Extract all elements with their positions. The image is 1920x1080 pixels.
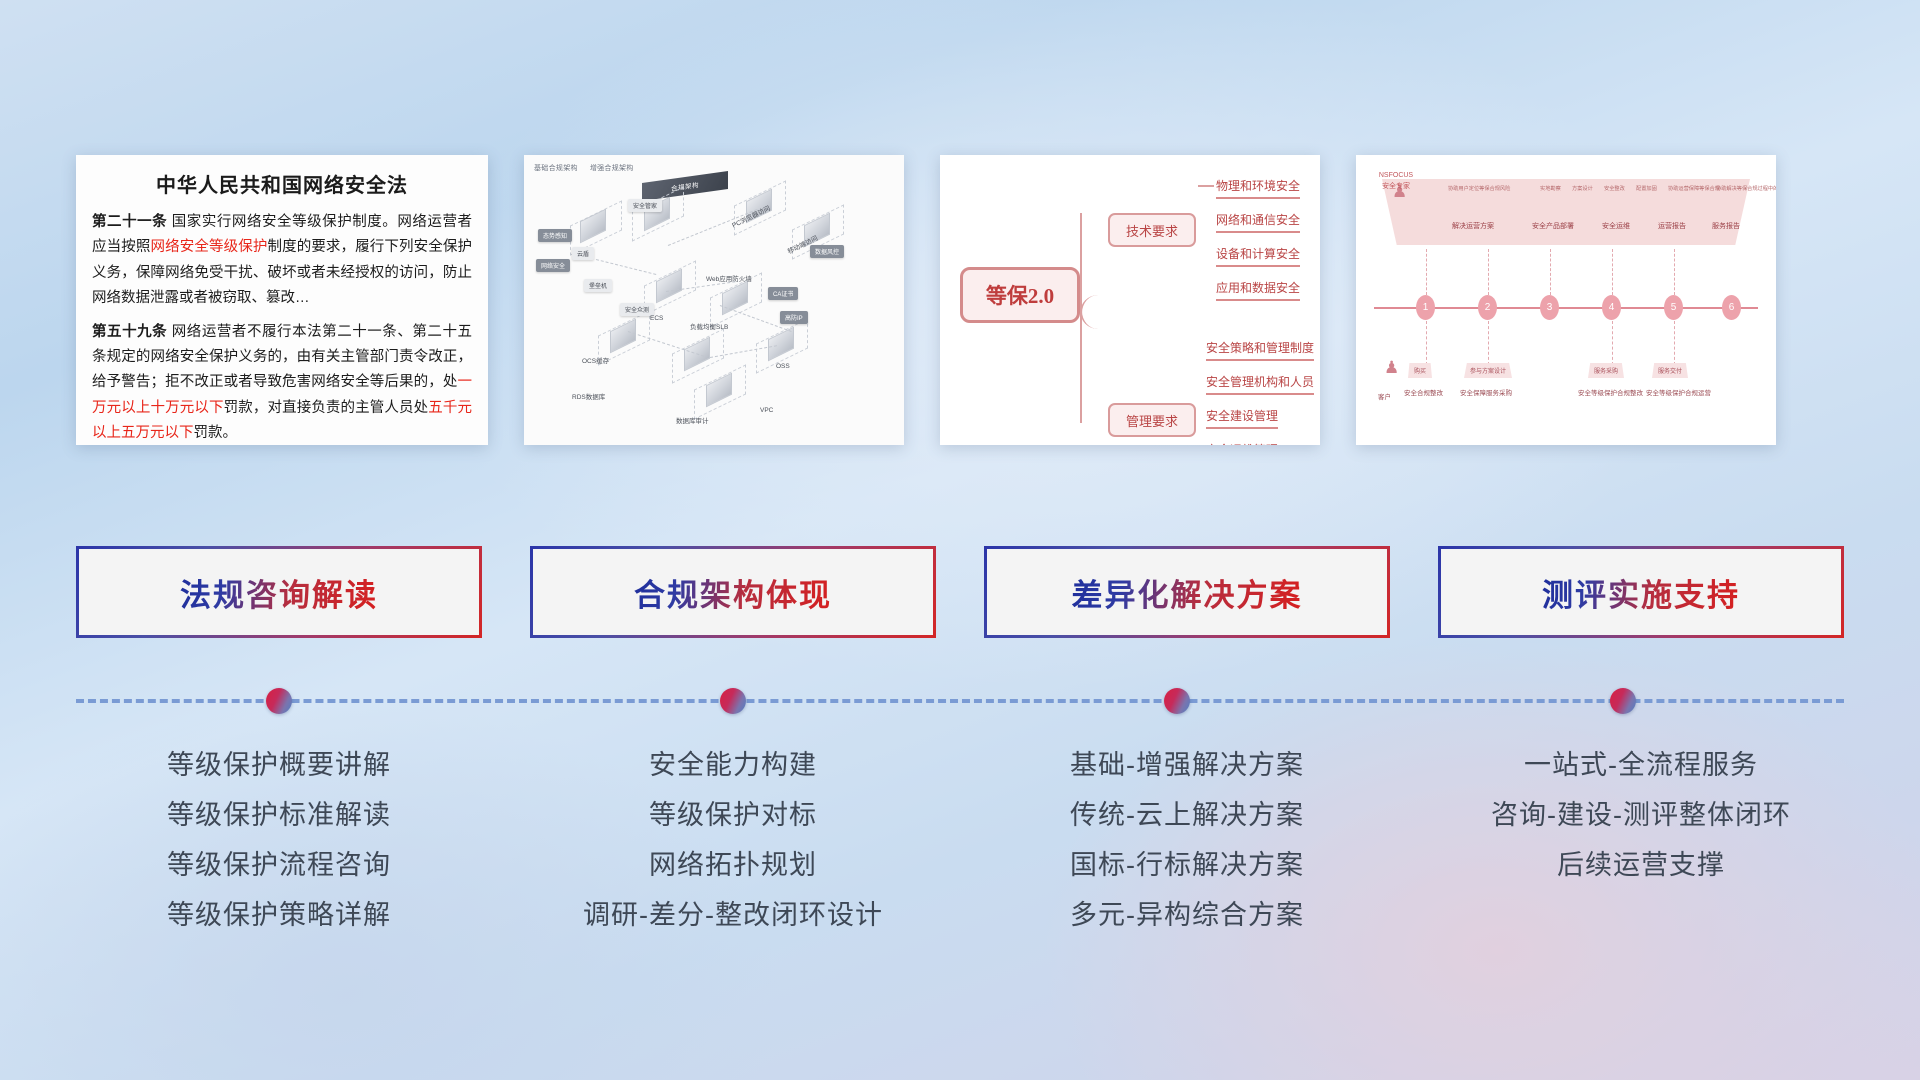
list-column-differentiated-solutions: 基础-增强解决方案 传统-云上解决方案 国标-行标解决方案 多元-异构综合方案: [984, 740, 1390, 970]
architecture-header: 基础合规架构增强合规架构: [534, 163, 646, 173]
architecture-diagram: 基础合规架构增强合规架构 合规架构 云盾: [524, 155, 904, 445]
diagram-chip: 安全管家: [628, 199, 662, 212]
mindmap-leaf: 安全运维管理: [1206, 441, 1278, 445]
law-article-59: 第五十九条 网络运营者不履行本法第二十一条、第二十五条规定的网络安全保护义务的，…: [92, 320, 472, 446]
law-article-59-after: 罚款。: [194, 425, 238, 441]
process-dashed-connector: [1488, 249, 1489, 295]
banner-inner: 测评实施支持: [1441, 549, 1841, 635]
service-detail-lists: 等级保护概要讲解 等级保护标准解读 等级保护流程咨询 等级保护策略详解 安全能力…: [76, 740, 1844, 970]
law-article-59-number: 第五十九条: [92, 324, 167, 340]
process-tag-caption: 安全等级保护合规整改: [1578, 387, 1643, 397]
list-item: 网络拓扑规划: [530, 840, 936, 890]
process-tag-caption: 安全合规整改: [1404, 387, 1443, 397]
process-dashed-connector: [1674, 321, 1675, 365]
diagram-label: RDS数据库: [572, 391, 605, 401]
mindmap-connector: [1198, 185, 1214, 281]
architecture-title-chip-label: 合规架构: [642, 171, 728, 201]
timeline-dashed-line: [76, 699, 1844, 703]
mindmap-leaf: 物理和环境安全: [1216, 177, 1300, 199]
timeline-dot-2[interactable]: [720, 688, 746, 714]
diagram-label: ECS: [650, 315, 663, 322]
diagram-chip: CA证书: [768, 287, 798, 300]
list-item: 国标-行标解决方案: [984, 840, 1390, 890]
banner-label: 合规架构体现: [634, 570, 832, 615]
law-article-21-number: 第二十一条: [92, 214, 167, 230]
process-tag: 服务交付: [1652, 363, 1688, 378]
card-dengbao-mindmap[interactable]: 等保2.0 技术要求 管理要求 物理和环境安全 网络和通信安全 设备和计算安全 …: [940, 155, 1320, 445]
list-item: 后续运营支撑: [1438, 840, 1844, 890]
diagram-chip: 堡垒机: [584, 279, 612, 292]
law-article-21-highlight: 网络安全等级保护: [150, 239, 267, 255]
mindmap-branch-management: 管理要求: [1108, 403, 1196, 437]
process-step: 3: [1540, 295, 1559, 320]
list-item: 等级保护概要讲解: [76, 740, 482, 790]
nsfocus-banner-sub: 解决运营方案: [1452, 221, 1494, 231]
list-item: 基础-增强解决方案: [984, 740, 1390, 790]
diagram-chip: 高防IP: [780, 311, 808, 324]
process-dashed-connector: [1674, 249, 1675, 295]
diagram-connector: [596, 259, 656, 275]
process-step: 4: [1602, 295, 1621, 320]
banner-differentiated-solutions[interactable]: 差异化解决方案: [984, 546, 1390, 638]
nsfocus-brand-line2: 安全专家: [1364, 182, 1428, 193]
timeline-dot-4[interactable]: [1610, 688, 1636, 714]
nsfocus-banner-sub: 安全产品部署: [1532, 221, 1574, 231]
list-column-compliance-architecture: 安全能力构建 等级保护对标 网络拓扑规划 调研-差分-整改闭环设计: [530, 740, 936, 970]
list-item: 安全能力构建: [530, 740, 936, 790]
process-tag: 服务采购: [1588, 363, 1624, 378]
diagram-label: OSS: [776, 363, 790, 370]
nsfocus-brand: NSFOCUS 安全专家: [1364, 171, 1428, 192]
banner-inner: 合规架构体现: [533, 549, 933, 635]
nsfocus-brand-line1: NSFOCUS: [1364, 171, 1428, 182]
process-step: 5: [1664, 295, 1683, 320]
banner-regulation-consulting[interactable]: 法规咨询解读: [76, 546, 482, 638]
process-dashed-connector: [1612, 249, 1613, 295]
mindmap-leaf: 安全建设管理: [1206, 407, 1278, 429]
diagram-label: OCS缓存: [582, 355, 609, 365]
law-title: 中华人民共和国网络安全法: [92, 169, 472, 198]
architecture-title-chip: 合规架构: [642, 171, 728, 201]
process-dashed-connector: [1550, 249, 1551, 295]
mindmap-leaf: 设备和计算安全: [1216, 245, 1300, 267]
banner-label: 测评实施支持: [1542, 570, 1740, 615]
preview-cards-row: 中华人民共和国网络安全法 第二十一条 国家实行网络安全等级保护制度。网络运营者应…: [76, 155, 1844, 445]
mindmap-leaf: 安全策略和管理制度: [1206, 339, 1314, 361]
list-item: 等级保护对标: [530, 790, 936, 840]
list-item: 等级保护流程咨询: [76, 840, 482, 890]
nsfocus-top-item: 配置加固: [1636, 185, 1657, 192]
list-column-regulation-consulting: 等级保护概要讲解 等级保护标准解读 等级保护流程咨询 等级保护策略详解: [76, 740, 482, 970]
diagram-chip: 安全众测: [620, 303, 654, 316]
card-cybersecurity-law[interactable]: 中华人民共和国网络安全法 第二十一条 国家实行网络安全等级保护制度。网络运营者应…: [76, 155, 488, 445]
mindmap-leaf: 安全管理机构和人员: [1206, 373, 1314, 395]
process-dashed-connector: [1426, 249, 1427, 295]
list-item: 等级保护标准解读: [76, 790, 482, 840]
list-item: 传统-云上解决方案: [984, 790, 1390, 840]
diagram-chip: 态势感知: [538, 229, 572, 242]
list-column-assessment-support: 一站式-全流程服务 咨询-建设-测评整体闭环 后续运营支撑: [1438, 740, 1844, 970]
process-dashed-connector: [1612, 321, 1613, 365]
list-item: 咨询-建设-测评整体闭环: [1438, 790, 1844, 840]
mindmap-leaf: 网络和通信安全: [1216, 211, 1300, 233]
card-nsfocus-process[interactable]: ♟ NSFOCUS 安全专家 协助用户定位等保合规风险 实地勘察 方案设计 安全…: [1356, 155, 1776, 445]
process-dashed-connector: [1488, 321, 1489, 365]
diagram-chip: 云盾: [572, 247, 594, 260]
mindmap: 等保2.0 技术要求 管理要求 物理和环境安全 网络和通信安全 设备和计算安全 …: [940, 155, 1320, 445]
diagram-label: 数据库审计: [676, 415, 709, 425]
mindmap-root-node: 等保2.0: [960, 267, 1080, 323]
process-step: 6: [1722, 295, 1741, 320]
nsfocus-process-diagram: ♟ NSFOCUS 安全专家 协助用户定位等保合规风险 实地勘察 方案设计 安全…: [1356, 155, 1776, 445]
timeline: [76, 688, 1844, 714]
law-article-21: 第二十一条 国家实行网络安全等级保护制度。网络运营者应当按照网络安全等级保护制度…: [92, 210, 472, 312]
architecture-header-left: 基础合规架构: [534, 165, 578, 172]
process-step: 1: [1416, 295, 1435, 320]
nsfocus-top-item: 安全整改: [1604, 185, 1625, 192]
mindmap-branch-technical: 技术要求: [1108, 213, 1196, 247]
banner-inner: 法规咨询解读: [79, 549, 479, 635]
process-step: 2: [1478, 295, 1497, 320]
diagram-chip: 数据风控: [810, 245, 844, 258]
list-item: 调研-差分-整改闭环设计: [530, 890, 936, 940]
service-banner-row: 法规咨询解读 合规架构体现 差异化解决方案 测评实施支持: [76, 546, 1844, 638]
banner-inner: 差异化解决方案: [987, 549, 1387, 635]
timeline-dot-3[interactable]: [1164, 688, 1190, 714]
process-dashed-connector: [1426, 321, 1427, 365]
client-label: 客户: [1378, 391, 1391, 401]
process-tag-caption: 安全保障服务采购: [1460, 387, 1512, 397]
nsfocus-banner-sub: 安全运维: [1602, 221, 1630, 231]
banner-label: 差异化解决方案: [1072, 570, 1303, 615]
nsfocus-top-item: 实地勘察: [1540, 185, 1561, 192]
nsfocus-top-item: 协助解决等保合规过程中的技术问题: [1716, 185, 1776, 192]
law-article-59-middle: 罚款，对直接负责的主管人员处: [224, 400, 429, 416]
diagram-label: VPC: [760, 407, 773, 414]
list-item: 一站式-全流程服务: [1438, 740, 1844, 790]
process-tag-caption: 安全等级保护合规运营: [1646, 387, 1711, 397]
nsfocus-banner-sub: 运营报告: [1658, 221, 1686, 231]
nsfocus-top-item: 协助运营保障等保合规: [1668, 185, 1720, 192]
mindmap-leaf: 应用和数据安全: [1216, 279, 1300, 301]
banner-label: 法规咨询解读: [180, 570, 378, 615]
nsfocus-top-item: 协助用户定位等保合规风险: [1448, 185, 1510, 192]
process-tag: 购买: [1408, 363, 1432, 378]
card-compliance-architecture[interactable]: 基础合规架构增强合规架构 合规架构 云盾: [524, 155, 904, 445]
diagram-chip: 网络安全: [536, 259, 570, 272]
client-avatar-icon: ♟: [1384, 359, 1399, 376]
timeline-dot-1[interactable]: [266, 688, 292, 714]
list-item: 等级保护策略详解: [76, 890, 482, 940]
nsfocus-top-item: 方案设计: [1572, 185, 1593, 192]
nsfocus-banner-sub: 服务报告: [1712, 221, 1740, 231]
mindmap-connector: [1080, 295, 1108, 423]
banner-compliance-architecture[interactable]: 合规架构体现: [530, 546, 936, 638]
diagram-label: 负载均衡SLB: [690, 321, 728, 331]
process-tag: 参与方案设计: [1464, 363, 1512, 378]
list-item: 多元-异构综合方案: [984, 890, 1390, 940]
banner-assessment-support[interactable]: 测评实施支持: [1438, 546, 1844, 638]
architecture-header-right: 增强合规架构: [590, 165, 634, 172]
